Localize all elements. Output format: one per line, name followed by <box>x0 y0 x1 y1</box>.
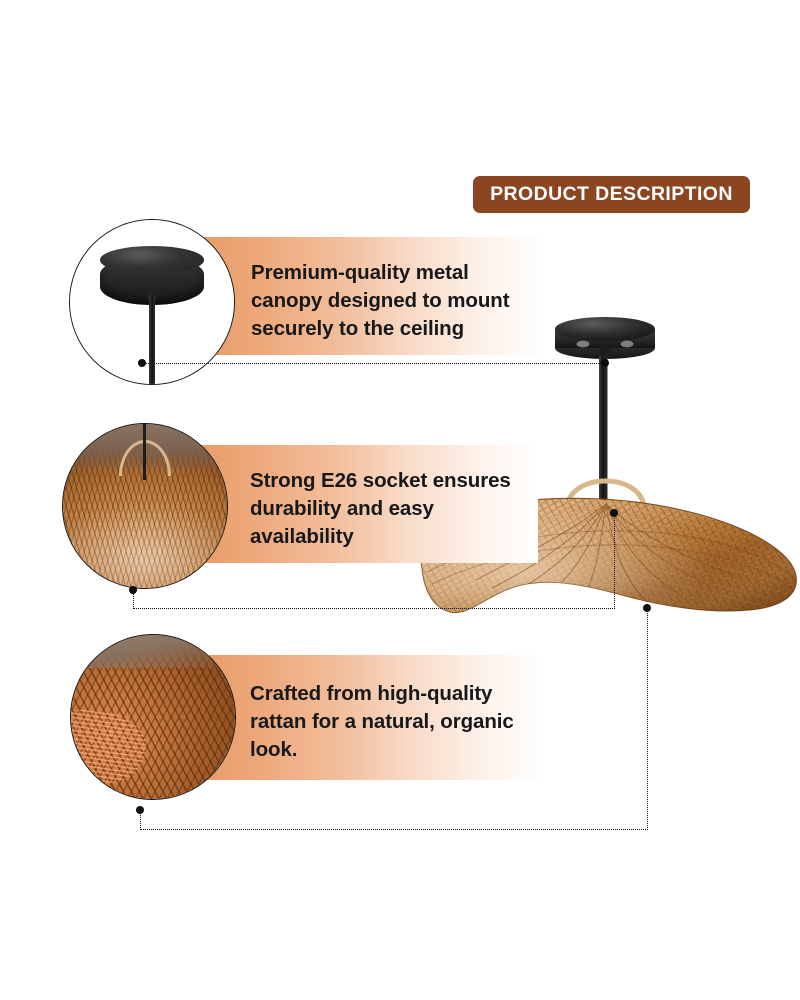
product-description-infographic: PRODUCT DESCRIPTION <box>0 0 800 1000</box>
canopy-detail-scene <box>70 220 234 384</box>
feature-panel-canopy: Premium-quality metal canopy designed to… <box>195 237 545 355</box>
connector-dot-socket-end <box>610 509 618 517</box>
socket-detail-photo <box>62 423 228 589</box>
canopy-disc-top <box>100 246 205 274</box>
connector-dot-rattan-end <box>643 604 651 612</box>
connector-dot-canopy-end <box>601 359 609 367</box>
ceiling-canopy <box>555 317 655 359</box>
rattan-detail-scene <box>71 635 235 799</box>
connector-line-rattan-riser <box>647 609 648 830</box>
canopy-detail-photo <box>69 219 235 385</box>
feature-text-canopy: Premium-quality metal canopy designed to… <box>251 259 536 343</box>
connector-line-rattan-vertical <box>140 810 141 830</box>
socket-detail-scene <box>63 424 227 588</box>
rattan-backdrop-band <box>70 634 236 668</box>
connector-line-rattan-horizontal <box>140 829 648 830</box>
feature-text-socket: Strong E26 socket ensures durability and… <box>250 467 525 551</box>
connector-line-socket-vertical <box>133 590 134 609</box>
connector-line-socket-riser <box>614 513 615 609</box>
product-description-badge-label: PRODUCT DESCRIPTION <box>490 183 733 206</box>
product-description-badge: PRODUCT DESCRIPTION <box>473 176 750 213</box>
rattan-weave-detail-photo <box>70 634 236 800</box>
socket-drop-rod <box>143 423 147 480</box>
rattan-fan-highlight <box>70 710 146 782</box>
canopy-drop-rod <box>149 295 155 385</box>
feature-panel-rattan: Crafted from high-quality rattan for a n… <box>195 655 545 780</box>
connector-line-canopy <box>142 363 605 364</box>
connector-line-socket-horizontal <box>133 608 615 609</box>
feature-text-rattan: Crafted from high-quality rattan for a n… <box>250 680 535 764</box>
feature-panel-socket: Strong E26 socket ensures durability and… <box>188 445 538 563</box>
